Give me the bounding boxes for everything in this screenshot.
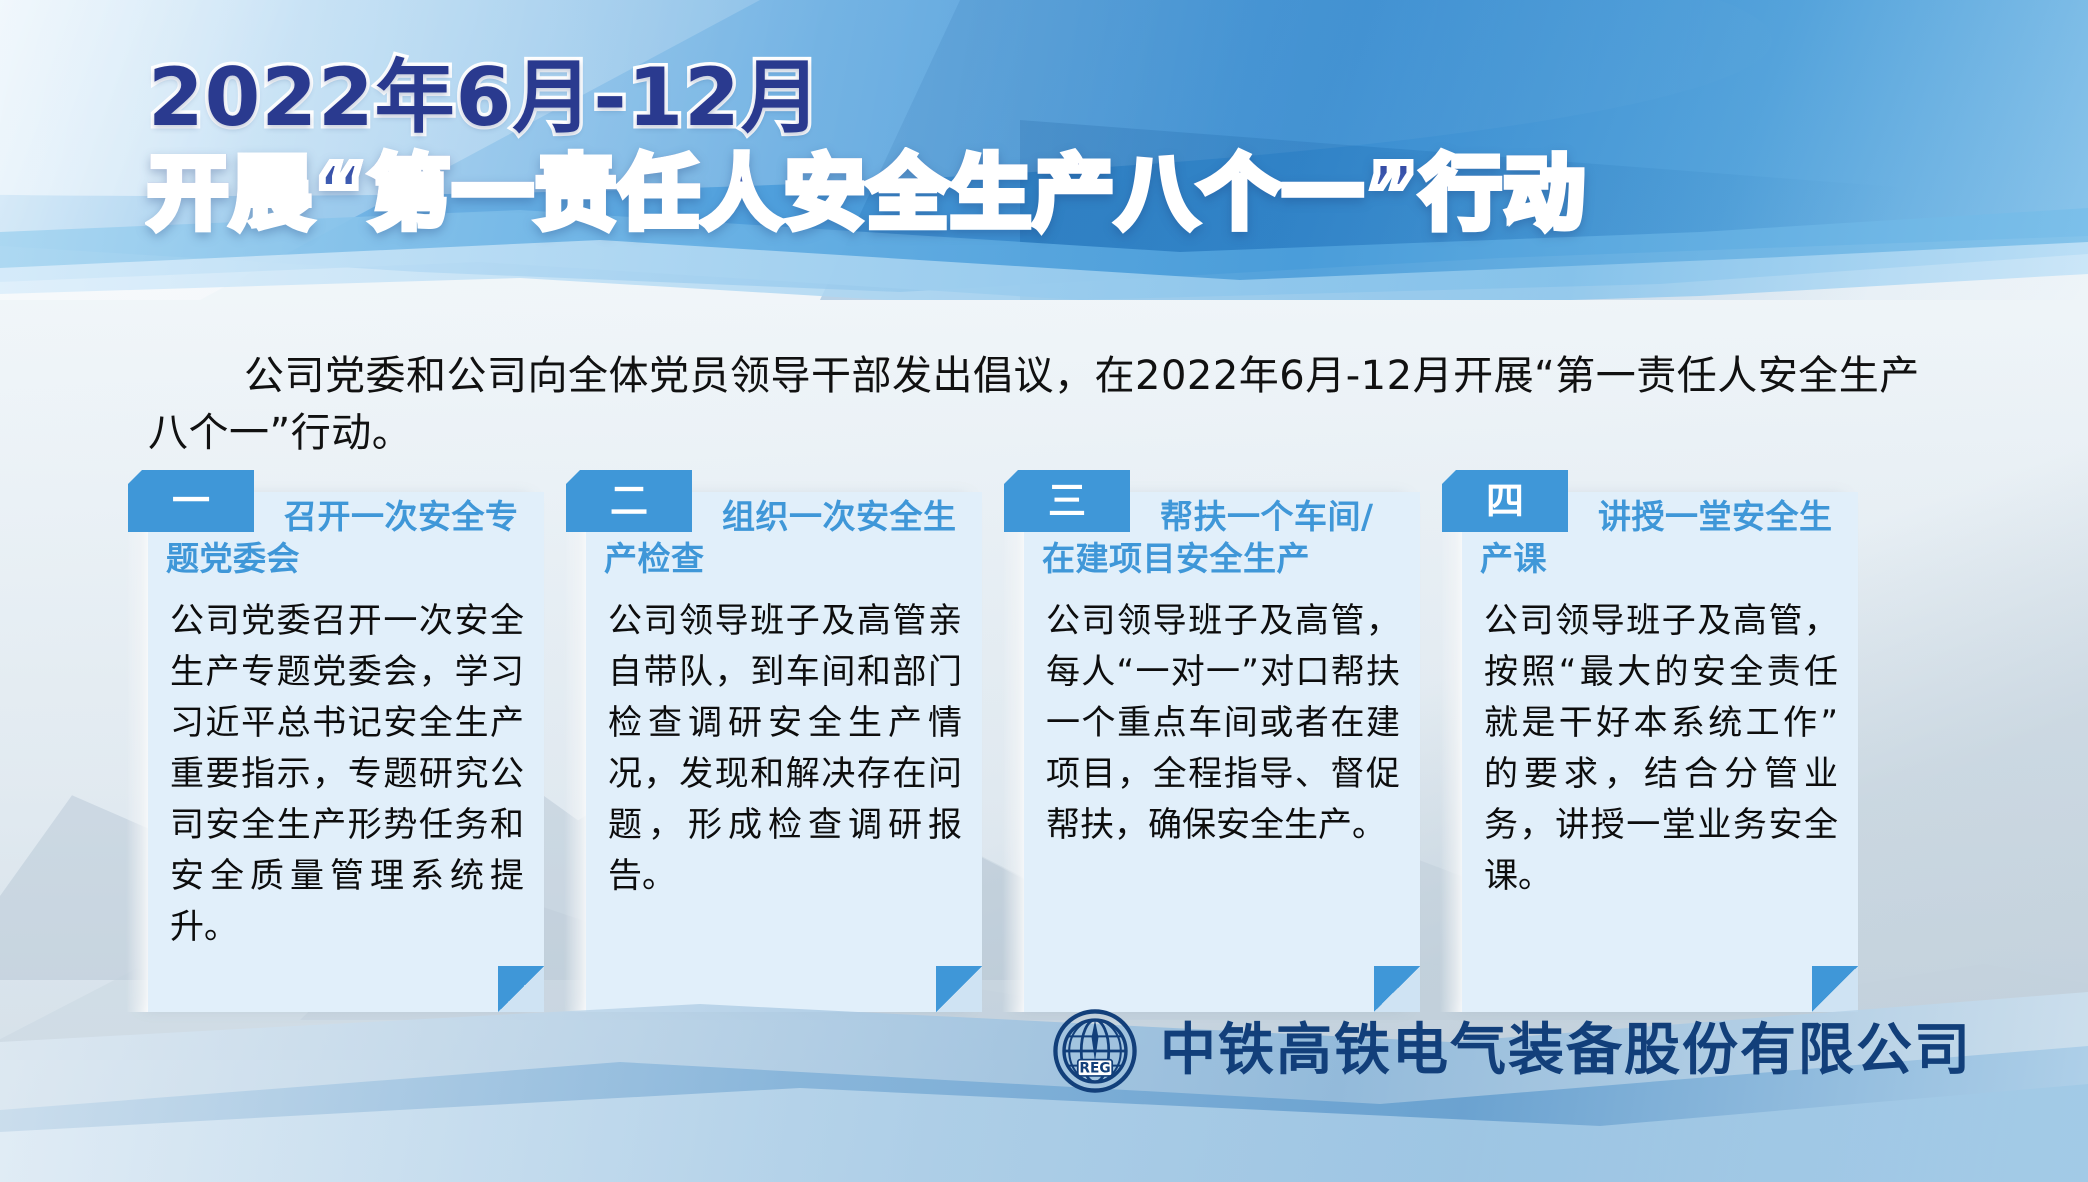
poster-root: 2022年6月-12月 开展“第一责任人安全生产八个一”行动 公司党委和公司向全… [0, 0, 2088, 1182]
card-edge-shadow [126, 492, 148, 1012]
card-edge-shadow [1440, 492, 1462, 1012]
intro-paragraph: 公司党委和公司向全体党员领导干部发出倡议，在2022年6月-12月开展“第一责任… [148, 348, 1938, 462]
card-title: 召开一次安全专题党委会 [148, 492, 544, 592]
company-globe-logo-icon: REG [1052, 1008, 1138, 1094]
title-line-1: 2022年6月-12月 [148, 58, 1998, 138]
action-card-list: 一 召开一次安全专题党委会 公司党委召开一次安全生产专题党委会，学习习近平总书记… [148, 492, 1948, 1012]
card-body: 公司领导班子及高管亲自带队，到车间和部门检查调研安全生产情况，发现和解决存在问题… [586, 592, 982, 902]
company-name: 中铁高铁电气装备股份有限公司 [1160, 1023, 1972, 1079]
action-card[interactable]: 一 召开一次安全专题党委会 公司党委召开一次安全生产专题党委会，学习习近平总书记… [148, 492, 544, 1012]
card-body: 公司领导班子及高管，每人“一对一”对口帮扶一个重点车间或者在建项目，全程指导、督… [1024, 592, 1420, 851]
card-edge-shadow [1002, 492, 1024, 1012]
card-title: 讲授一堂安全生产课 [1462, 492, 1858, 592]
card-title: 组织一次安全生产检查 [586, 492, 982, 592]
action-card[interactable]: 二 组织一次安全生产检查 公司领导班子及高管亲自带队，到车间和部门检查调研安全生… [586, 492, 982, 1012]
title-line-2: 开展“第一责任人安全生产八个一”行动 [148, 154, 1998, 234]
logo-text: REG [1079, 1061, 1110, 1077]
intro-text: 公司党委和公司向全体党员领导干部发出倡议，在2022年6月-12月开展“第一责任… [148, 353, 1920, 456]
company-signature: REG 中铁高铁电气装备股份有限公司 [1052, 1008, 1972, 1094]
card-body: 公司领导班子及高管，按照“最大的安全责任就是干好本系统工作”的要求，结合分管业务… [1462, 592, 1858, 902]
action-card[interactable]: 四 讲授一堂安全生产课 公司领导班子及高管，按照“最大的安全责任就是干好本系统工… [1462, 492, 1858, 1012]
action-card[interactable]: 三 帮扶一个车间/在建项目安全生产 公司领导班子及高管，每人“一对一”对口帮扶一… [1024, 492, 1420, 1012]
card-title: 帮扶一个车间/在建项目安全生产 [1024, 492, 1420, 592]
card-edge-shadow [564, 492, 586, 1012]
card-body: 公司党委召开一次安全生产专题党委会，学习习近平总书记安全生产重要指示，专题研究公… [148, 592, 544, 953]
poster-title: 2022年6月-12月 开展“第一责任人安全生产八个一”行动 [148, 58, 1998, 234]
